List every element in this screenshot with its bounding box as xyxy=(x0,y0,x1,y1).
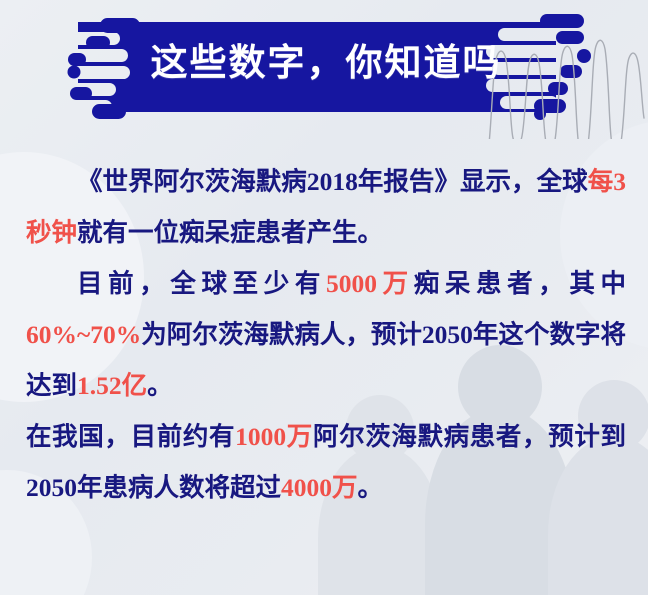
highlighted-figure: 60%~70% xyxy=(26,320,141,349)
paragraph-2: 目前，全球至少有5000万痴呆患者，其中60%~70%为阿尔茨海默病人，预计20… xyxy=(26,258,626,411)
banner-title-text: 这些数字，你知道吗 xyxy=(0,14,648,114)
text-segment: 。 xyxy=(358,473,384,502)
poster-canvas: 这些数字，你知道吗 《世界阿尔茨海默病2018年报告》显示，全球每3秒钟就有一位… xyxy=(0,0,648,595)
text-segment: 《世界阿尔茨海默病2018年报告》显示，全球 xyxy=(77,167,588,196)
title-banner: 这些数字，你知道吗 xyxy=(0,14,648,114)
highlighted-figure: 1000万 xyxy=(235,422,313,451)
paragraph-1: 《世界阿尔茨海默病2018年报告》显示，全球每3秒钟就有一位痴呆症患者产生。 xyxy=(26,156,626,258)
text-segment: 。 xyxy=(147,371,173,400)
body-copy: 《世界阿尔茨海默病2018年报告》显示，全球每3秒钟就有一位痴呆症患者产生。 目… xyxy=(0,156,648,513)
highlighted-figure: 5000万 xyxy=(326,269,414,298)
text-segment: 痴呆患者，其中 xyxy=(414,269,626,298)
text-segment: 目前，全球至少有 xyxy=(77,269,326,298)
highlighted-figure: 4000万 xyxy=(281,473,358,502)
highlighted-figure: 1.52亿 xyxy=(77,371,147,400)
text-segment: 就有一位痴呆症患者产生。 xyxy=(77,218,383,247)
paragraph-3: 在我国，目前约有1000万阿尔茨海默病患者，预计到2050年患病人数将超过400… xyxy=(26,411,626,513)
text-segment: 在我国，目前约有 xyxy=(26,422,235,451)
